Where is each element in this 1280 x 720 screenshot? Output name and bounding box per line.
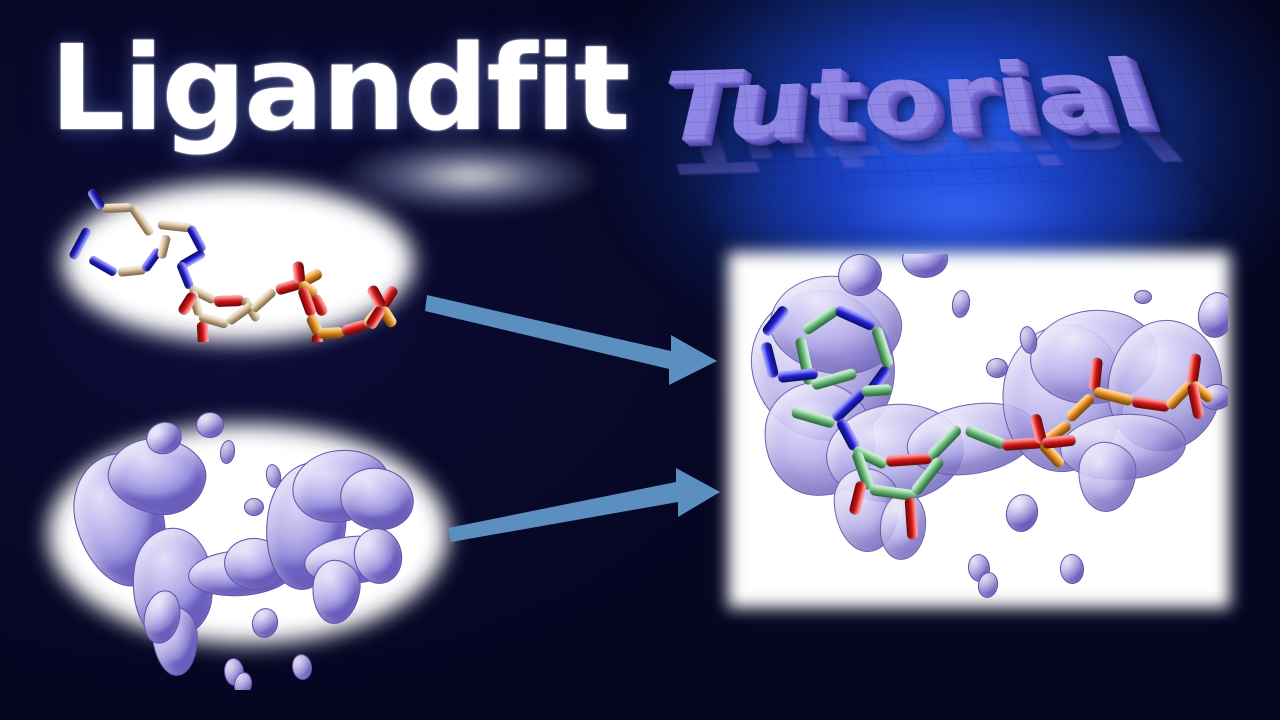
arrow-density-to-result [448, 462, 723, 542]
tutorial-heading-group: Tutorial Tutorial [648, 18, 1268, 268]
ligand-structure [62, 182, 414, 342]
slide-root: Ligandfit Tutorial Tutorial [0, 0, 1280, 720]
page-title: Ligandfit [50, 22, 650, 154]
fitted-result [730, 254, 1228, 606]
electron-density-map [48, 410, 458, 690]
arrow-ligand-to-result [425, 285, 725, 390]
tutorial-text: Tutorial [660, 42, 1180, 166]
